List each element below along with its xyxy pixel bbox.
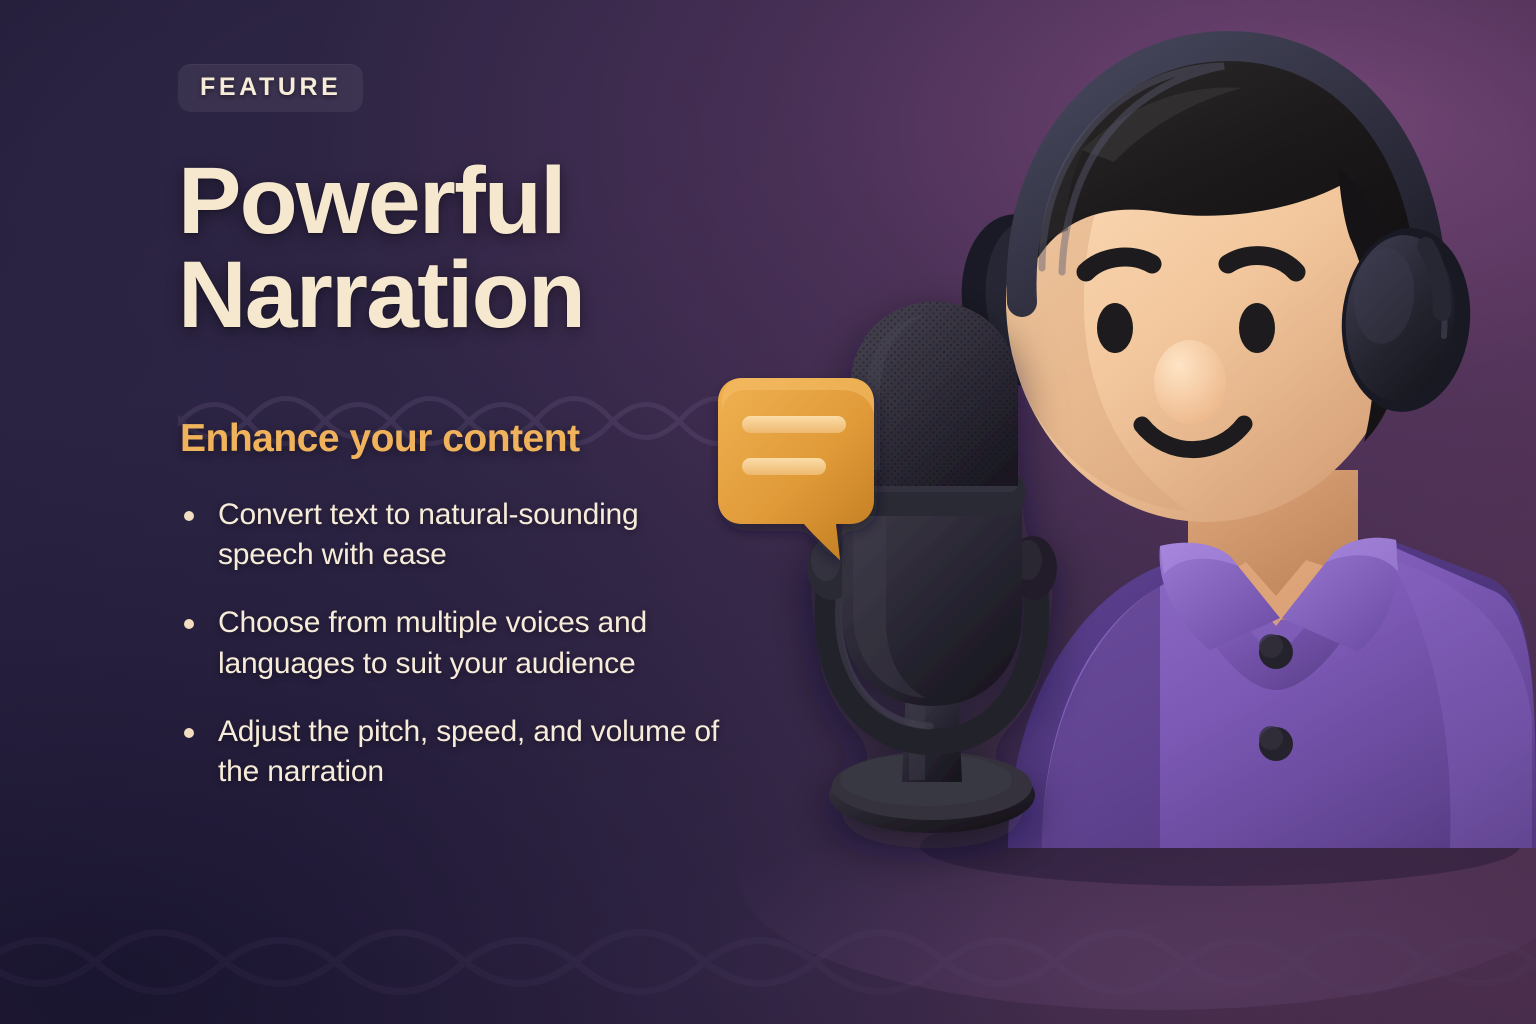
nose	[1154, 340, 1226, 424]
feature-badge-label: FEATURE	[200, 75, 341, 100]
feature-list: Convert text to natural-sounding speech …	[182, 495, 742, 792]
feature-slide: FEATURE Powerful Narration Enhance your …	[0, 0, 1536, 1024]
list-item-text: Adjust the pitch, speed, and volume of t…	[218, 715, 719, 788]
bullet-dot-icon	[184, 728, 194, 738]
list-item: Choose from multiple voices and language…	[182, 603, 742, 683]
page-title: Powerful Narration	[178, 154, 878, 342]
bullet-dot-icon	[184, 511, 194, 521]
eye-right	[1239, 303, 1275, 353]
list-item-text: Choose from multiple voices and language…	[218, 606, 647, 679]
text-column: FEATURE Powerful Narration Enhance your …	[178, 64, 878, 792]
list-item: Adjust the pitch, speed, and volume of t…	[182, 712, 742, 792]
headline-line-1: Powerful	[178, 154, 878, 248]
eye-left	[1097, 303, 1133, 353]
feature-badge: FEATURE	[178, 64, 363, 112]
headline-line-2: Narration	[178, 248, 878, 342]
list-item: Convert text to natural-sounding speech …	[182, 495, 742, 575]
bullet-dot-icon	[184, 619, 194, 629]
list-item-text: Convert text to natural-sounding speech …	[218, 498, 639, 571]
subheading: Enhance your content	[180, 418, 878, 461]
